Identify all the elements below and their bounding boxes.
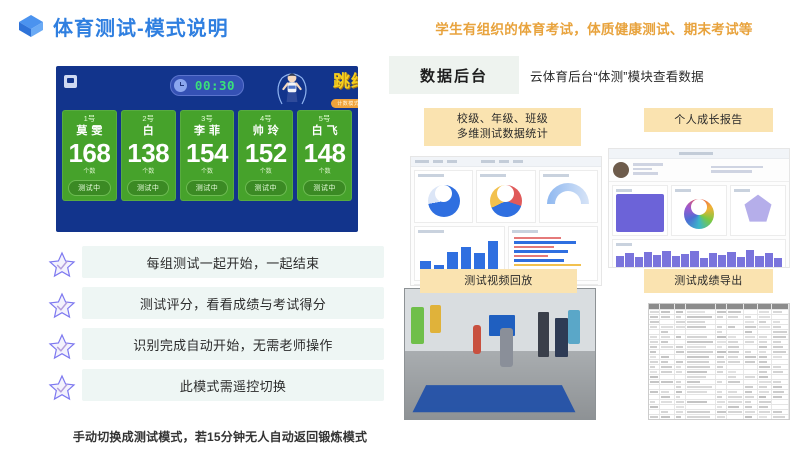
spreadsheet-cell <box>727 400 744 404</box>
spreadsheet-cell <box>716 375 727 379</box>
spreadsheet-cell <box>675 310 686 314</box>
spreadsheet-cell <box>772 325 789 329</box>
spreadsheet-cell <box>772 335 789 339</box>
spreadsheet-cell <box>772 410 789 414</box>
spreadsheet-cell <box>772 365 789 369</box>
spreadsheet-cell <box>649 355 660 359</box>
spreadsheet-cell <box>772 355 789 359</box>
spreadsheet-cell <box>758 315 772 319</box>
spreadsheet-cell <box>744 320 758 324</box>
spreadsheet-cell <box>716 355 727 359</box>
spreadsheet-cell <box>660 340 674 344</box>
radar-chart-card <box>730 185 786 236</box>
spreadsheet-cell <box>675 340 686 344</box>
spreadsheet-cell <box>758 320 772 324</box>
card-caption <box>675 189 691 192</box>
score-export-spreadsheet <box>648 303 790 420</box>
spreadsheet-cell <box>649 380 660 384</box>
dashboard-row <box>414 170 598 223</box>
spreadsheet-cell <box>675 320 686 324</box>
statistics-dashboard-screenshot <box>410 156 602 286</box>
score-unit: 个数 <box>180 168 235 177</box>
spreadsheet-cell <box>649 320 660 324</box>
label-line-2: 多维测试数据统计 <box>457 127 548 142</box>
status-badge: 测试中 <box>68 180 111 196</box>
spreadsheet-cell <box>772 330 789 334</box>
screen-topbar: 00:30 跳绳 计数模式中 <box>56 66 358 108</box>
card-caption <box>418 230 444 233</box>
status-badge: 测试中 <box>245 180 288 196</box>
feature-row: 此模式需遥控切换 <box>48 369 388 410</box>
spreadsheet-cell <box>660 395 674 399</box>
spreadsheet-cell <box>716 385 727 389</box>
spreadsheet-cell <box>772 405 789 409</box>
countdown-timer: 00:30 <box>170 75 244 96</box>
spreadsheet-cell <box>660 325 674 329</box>
spreadsheet-cell <box>744 400 758 404</box>
star-icon <box>48 251 76 279</box>
school-logo-icon <box>64 75 77 88</box>
card-caption <box>616 189 632 192</box>
student-name: 帅玲 <box>238 124 293 139</box>
spreadsheet-cell <box>660 405 674 409</box>
spreadsheet-cell <box>716 340 727 344</box>
spreadsheet-cell <box>716 345 727 349</box>
spreadsheet-cell <box>686 345 716 349</box>
student-number: 3号 <box>180 113 235 124</box>
spreadsheet-cell <box>772 415 789 419</box>
spreadsheet-cell <box>660 380 674 384</box>
page-title: 体育测试-模式说明 <box>53 12 229 41</box>
spreadsheet-cell <box>716 315 727 319</box>
label-video-playback: 测试视频回放 <box>420 269 577 293</box>
spreadsheet-cell <box>686 310 716 314</box>
spreadsheet-cell <box>675 410 686 414</box>
student-name: 白飞 <box>297 124 352 139</box>
label-score-export: 测试成绩导出 <box>644 269 773 293</box>
spreadsheet-cell <box>758 355 772 359</box>
spreadsheet-cell <box>649 375 660 379</box>
radar-chart <box>743 194 773 224</box>
spreadsheet-cell <box>716 415 727 419</box>
student-card: 4号 帅玲 152 个数 测试中 <box>238 110 293 201</box>
spreadsheet-cell <box>744 315 758 319</box>
spreadsheet-cell <box>758 385 772 389</box>
spreadsheet-cell <box>716 325 727 329</box>
spreadsheet-cell <box>772 315 789 319</box>
spreadsheet-cell <box>772 310 789 314</box>
spreadsheet-cell <box>660 355 674 359</box>
kiosk-display <box>538 312 549 356</box>
spreadsheet-cell <box>716 310 727 314</box>
spreadsheet-cell <box>649 360 660 364</box>
student-name: 李菲 <box>180 124 235 139</box>
spreadsheet-cell <box>744 355 758 359</box>
spreadsheet-cell <box>727 365 744 369</box>
spreadsheet-cell <box>716 330 727 334</box>
spreadsheet-cell <box>649 395 660 399</box>
spreadsheet-cell <box>772 350 789 354</box>
student-name: 白 <box>121 124 176 139</box>
spreadsheet-cell <box>758 325 772 329</box>
status-badge: 测试中 <box>127 180 170 196</box>
spreadsheet-cell <box>716 400 727 404</box>
spreadsheet-cell <box>675 400 686 404</box>
spreadsheet-cell <box>727 355 744 359</box>
spreadsheet-cell <box>660 335 674 339</box>
spreadsheet-cell <box>716 380 727 384</box>
spreadsheet-cell <box>744 304 758 309</box>
spreadsheet-cell <box>686 330 716 334</box>
score-unit: 个数 <box>238 168 293 177</box>
student-number: 1号 <box>62 113 117 124</box>
spreadsheet-cell <box>716 390 727 394</box>
spreadsheet-cell <box>660 370 674 374</box>
report-row <box>612 185 786 236</box>
rainbow-donut-card <box>671 185 727 236</box>
sport-name: 跳绳 <box>321 72 358 92</box>
spreadsheet-cell <box>758 330 772 334</box>
report-profile-header <box>609 159 789 182</box>
spreadsheet-cell <box>758 375 772 379</box>
spreadsheet-cell <box>758 310 772 314</box>
student-number: 5号 <box>297 113 352 124</box>
spreadsheet-cell <box>744 385 758 389</box>
spreadsheet-cell <box>772 340 789 344</box>
spreadsheet-cell <box>686 390 716 394</box>
spreadsheet-cell <box>716 405 727 409</box>
spreadsheet-cell <box>686 335 716 339</box>
slide-root: 体育测试-模式说明 学生有组织的体育考试，体质健康测试、期末考试等 00:30 <box>0 0 790 451</box>
spreadsheet-cell <box>675 390 686 394</box>
sport-mode-badge: 计数模式中 <box>331 99 358 108</box>
spreadsheet-cell <box>744 335 758 339</box>
spreadsheet-cell <box>744 325 758 329</box>
spreadsheet-cell <box>660 304 674 309</box>
student-name: 莫雯 <box>62 124 117 139</box>
feature-label: 测试评分，看看成绩与考试得分 <box>82 287 384 319</box>
spreadsheet-cell <box>744 395 758 399</box>
spreadsheet-cell <box>758 350 772 354</box>
spreadsheet-cell <box>772 400 789 404</box>
dashboard-toolbar <box>411 157 601 167</box>
spreadsheet-cell <box>727 405 744 409</box>
spreadsheet-cell <box>686 410 716 414</box>
spreadsheet-cell <box>744 350 758 354</box>
spreadsheet-cell <box>649 325 660 329</box>
spreadsheet-cell <box>744 415 758 419</box>
spreadsheet-cell <box>675 380 686 384</box>
spreadsheet-cell <box>660 375 674 379</box>
spreadsheet-cell <box>686 380 716 384</box>
spreadsheet-cell <box>675 304 686 309</box>
spreadsheet-cell <box>660 350 674 354</box>
spreadsheet-cell <box>758 410 772 414</box>
card-caption <box>734 189 750 192</box>
spreadsheet-cell <box>744 345 758 349</box>
card-caption <box>543 174 569 177</box>
spreadsheet-cell <box>744 410 758 414</box>
spreadsheet-cell <box>758 395 772 399</box>
spreadsheet-cell <box>675 395 686 399</box>
spreadsheet-cell <box>649 310 660 314</box>
spreadsheet-cell <box>727 315 744 319</box>
spreadsheet-cell <box>744 310 758 314</box>
wall-art <box>430 305 441 334</box>
spreadsheet-cell <box>758 370 772 374</box>
student-score: 152 <box>238 139 293 168</box>
spreadsheet-cell <box>660 320 674 324</box>
student-score: 138 <box>121 139 176 168</box>
spreadsheet-cell <box>758 345 772 349</box>
spreadsheet-cell <box>727 335 744 339</box>
spreadsheet-cell <box>727 320 744 324</box>
spreadsheet-cell <box>686 340 716 344</box>
star-icon <box>48 333 76 361</box>
spreadsheet-cell <box>758 340 772 344</box>
spreadsheet-cell <box>744 340 758 344</box>
avatar <box>613 162 629 178</box>
star-icon <box>48 292 76 320</box>
spreadsheet-cell <box>744 380 758 384</box>
student-number: 2号 <box>121 113 176 124</box>
spreadsheet-cell <box>660 390 674 394</box>
spreadsheet-cell <box>772 360 789 364</box>
spreadsheet-cell <box>675 385 686 389</box>
spreadsheet-cell <box>716 365 727 369</box>
spreadsheet-cell <box>675 330 686 334</box>
jump-rope-figure-icon <box>271 68 313 110</box>
spreadsheet-cell <box>675 405 686 409</box>
spreadsheet-cell <box>649 365 660 369</box>
sport-badge: 跳绳 计数模式中 <box>321 72 358 110</box>
profile-meta <box>711 166 785 175</box>
spreadsheet-cell <box>649 415 660 419</box>
donut-chart <box>428 185 460 217</box>
student-figure <box>500 328 513 367</box>
spreadsheet-cell <box>675 350 686 354</box>
personal-growth-report-screenshot <box>608 148 790 268</box>
spreadsheet-cell <box>686 315 716 319</box>
spreadsheet-cell <box>716 350 727 354</box>
score-unit: 个数 <box>121 168 176 177</box>
feature-row: 识别完成自动开始，无需老师操作 <box>48 328 388 369</box>
spreadsheet-cell <box>686 370 716 374</box>
spreadsheet-cell <box>660 410 674 414</box>
donut-chart-card <box>476 170 535 223</box>
spreadsheet-cell <box>727 370 744 374</box>
spreadsheet-cell <box>758 304 772 309</box>
backend-description: 云体育后台“体测”模块查看数据 <box>530 66 704 85</box>
spreadsheet-cell <box>727 345 744 349</box>
spreadsheet-cell <box>649 390 660 394</box>
spreadsheet-cell <box>716 410 727 414</box>
label-personal-growth-report: 个人成长报告 <box>644 108 773 132</box>
spreadsheet-cell <box>772 385 789 389</box>
spreadsheet-cell <box>727 330 744 334</box>
donut-chart <box>490 185 522 217</box>
spreadsheet-cell <box>686 325 716 329</box>
student-card: 1号 莫雯 168 个数 测试中 <box>62 110 117 201</box>
feature-row: 每组测试一起开始，一起结束 <box>48 246 388 287</box>
score-unit: 个数 <box>62 168 117 177</box>
spreadsheet-cell <box>660 315 674 319</box>
trend-bar-card <box>612 239 786 268</box>
student-number: 4号 <box>238 113 293 124</box>
gauge-chart-card <box>539 170 598 223</box>
spreadsheet-cell <box>686 365 716 369</box>
spreadsheet-cell <box>744 405 758 409</box>
spreadsheet-cell <box>744 390 758 394</box>
spreadsheet-cell <box>727 340 744 344</box>
spreadsheet-cell <box>744 360 758 364</box>
spreadsheet-cell <box>686 304 716 309</box>
spreadsheet-cell <box>716 335 727 339</box>
spreadsheet-cell <box>758 390 772 394</box>
status-badge: 测试中 <box>303 180 346 196</box>
spreadsheet-cell <box>686 400 716 404</box>
student-card-list: 1号 莫雯 168 个数 测试中 2号 白 138 个数 测试中 3号 李菲 1… <box>62 110 352 201</box>
feature-label: 识别完成自动开始，无需老师操作 <box>82 328 384 360</box>
score-panel <box>616 194 664 232</box>
spreadsheet-cell <box>660 400 674 404</box>
spreadsheet-cell <box>675 375 686 379</box>
spreadsheet-cell <box>675 325 686 329</box>
spreadsheet-cell <box>758 405 772 409</box>
student-card: 3号 李菲 154 个数 测试中 <box>180 110 235 201</box>
spreadsheet-cell <box>744 330 758 334</box>
wall-art <box>411 307 424 343</box>
spreadsheet-cell <box>649 400 660 404</box>
clock-icon <box>174 79 187 92</box>
label-multidimensional-stats: 校级、年级、班级 多维测试数据统计 <box>424 108 581 146</box>
student-score: 148 <box>297 139 352 168</box>
horizontal-bar-chart <box>512 235 595 271</box>
spreadsheet-cell <box>649 345 660 349</box>
student-score: 154 <box>180 139 235 168</box>
spreadsheet-cell <box>727 350 744 354</box>
spreadsheet-cell <box>686 385 716 389</box>
spreadsheet-cell <box>716 320 727 324</box>
spreadsheet-cell <box>675 335 686 339</box>
card-caption <box>512 230 538 233</box>
spreadsheet-cell <box>686 350 716 354</box>
donut-chart-card <box>414 170 473 223</box>
spreadsheet-cell <box>744 365 758 369</box>
summary-card <box>612 185 668 236</box>
spreadsheet-cell <box>727 415 744 419</box>
spreadsheet-cell <box>675 370 686 374</box>
spreadsheet-cell <box>772 375 789 379</box>
spreadsheet-cell <box>649 335 660 339</box>
spreadsheet-cell <box>727 390 744 394</box>
spreadsheet-cell <box>649 370 660 374</box>
spreadsheet-cell <box>649 304 660 309</box>
score-unit: 个数 <box>297 168 352 177</box>
card-caption <box>480 174 506 177</box>
spreadsheet-cell <box>660 360 674 364</box>
spreadsheet-cell <box>649 410 660 414</box>
spreadsheet-cell <box>772 345 789 349</box>
student-card: 5号 白飞 148 个数 测试中 <box>297 110 352 201</box>
spreadsheet-cell <box>675 315 686 319</box>
spreadsheet-cell <box>744 375 758 379</box>
spreadsheet-cell <box>660 345 674 349</box>
timer-value: 00:30 <box>187 78 243 93</box>
report-toolbar <box>609 149 789 159</box>
student-score: 168 <box>62 139 117 168</box>
footnote: 手动切换成测试模式，若15分钟无人自动返回锻炼模式 <box>48 428 392 445</box>
kiosk-display <box>555 318 568 357</box>
spreadsheet-cell <box>649 405 660 409</box>
card-caption <box>418 174 444 177</box>
spreadsheet-cell <box>660 365 674 369</box>
spreadsheet-cell <box>772 370 789 374</box>
spreadsheet-cell <box>727 360 744 364</box>
spreadsheet-cell <box>675 365 686 369</box>
card-caption <box>616 243 632 246</box>
spreadsheet-cell <box>727 325 744 329</box>
spreadsheet-cell <box>716 370 727 374</box>
spreadsheet-cell <box>727 375 744 379</box>
spreadsheet-cell <box>649 350 660 354</box>
spreadsheet-cell <box>675 355 686 359</box>
spreadsheet-cell <box>686 320 716 324</box>
spreadsheet-cell <box>686 360 716 364</box>
spreadsheet-cell <box>772 380 789 384</box>
feature-row: 测试评分，看看成绩与考试得分 <box>48 287 388 328</box>
spreadsheet-cell <box>716 304 727 309</box>
spreadsheet-cell <box>716 395 727 399</box>
spreadsheet-cell <box>686 395 716 399</box>
spreadsheet-cell <box>727 304 744 309</box>
device-screen-preview: 00:30 跳绳 计数模式中 1号 莫雯 168 <box>56 66 358 232</box>
spreadsheet-cell <box>727 385 744 389</box>
backend-title-box: 数据后台 <box>389 56 519 94</box>
profile-info <box>633 163 707 177</box>
spreadsheet-cell <box>675 360 686 364</box>
label-line-1: 校级、年级、班级 <box>457 112 548 127</box>
spreadsheet-cell <box>727 380 744 384</box>
spreadsheet-cell <box>758 360 772 364</box>
gym-test-video-photo <box>404 288 596 420</box>
test-mat <box>413 385 576 412</box>
spreadsheet-cell <box>772 395 789 399</box>
spreadsheet-cell <box>758 335 772 339</box>
feature-label: 此模式需遥控切换 <box>82 369 384 401</box>
spreadsheet-cell <box>686 355 716 359</box>
status-badge: 测试中 <box>186 180 229 196</box>
header-subtitle: 学生有组织的体育考试，体质健康测试、期末考试等 <box>408 18 780 38</box>
spreadsheet-cell <box>727 310 744 314</box>
spreadsheet-cell <box>758 400 772 404</box>
star-icon <box>48 374 76 402</box>
trend-bar-chart <box>616 248 782 268</box>
spreadsheet-cell <box>772 304 789 309</box>
donut-chart <box>684 199 714 229</box>
wall-art <box>568 310 579 344</box>
report-body <box>609 182 789 268</box>
spreadsheet-cell <box>772 320 789 324</box>
spreadsheet-cell <box>675 345 686 349</box>
spreadsheet-cell <box>649 385 660 389</box>
spreadsheet-cell <box>758 365 772 369</box>
spreadsheet-cell <box>660 385 674 389</box>
spreadsheet-cell <box>772 390 789 394</box>
spreadsheet-cell <box>716 360 727 364</box>
report-row <box>612 239 786 268</box>
student-card: 2号 白 138 个数 测试中 <box>121 110 176 201</box>
